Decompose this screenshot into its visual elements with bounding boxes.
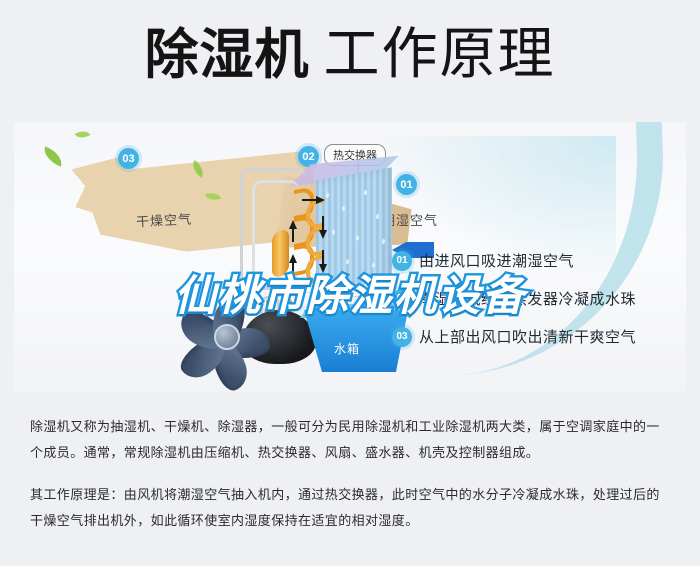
step-text: 从上部出风口吹出清新干爽空气	[419, 326, 636, 347]
poster-root: 除湿机工作原理 干燥空气 潮湿空气 03 02 01 热交换器	[0, 0, 700, 566]
condensation-droplets	[316, 167, 392, 292]
step-number: 02	[392, 289, 412, 309]
steps-list: 01 由进风口吸进潮湿空气 02 潮湿空气经过蒸发器冷凝成水珠 03 从上部出风…	[392, 250, 692, 364]
diagram-badge-03: 03	[118, 148, 139, 169]
leaf-icon	[75, 127, 91, 142]
leaf-icon	[40, 146, 65, 166]
refrigerant-coils	[266, 179, 322, 301]
dry-air-label: 干燥空气	[136, 209, 193, 231]
page-title: 除湿机工作原理	[0, 24, 700, 85]
list-item: 01 由进风口吸进潮湿空气	[392, 250, 692, 271]
step-text: 潮湿空气经过蒸发器冷凝成水珠	[419, 288, 636, 309]
step-text: 由进风口吸进潮湿空气	[419, 250, 574, 271]
receiver-cylinder	[272, 228, 289, 279]
body-copy: 除湿机又称为抽湿机、干燥机、除湿器，一般可分为民用除湿机和工业除湿机两大类，属于…	[30, 414, 670, 550]
fan-assembly	[174, 284, 282, 388]
list-item: 03 从上部出风口吹出清新干爽空气	[392, 326, 692, 347]
title-part-2: 工作原理	[324, 22, 556, 85]
water-tank-label: 水箱	[334, 340, 360, 357]
step-number: 01	[392, 251, 412, 271]
body-paragraph-2: 其工作原理是：由风机将潮湿空气抽入机内，通过热交换器，此时空气中的水分子冷凝成水…	[30, 482, 670, 534]
fan-hub	[214, 324, 240, 350]
step-number: 03	[392, 327, 412, 347]
body-paragraph-1: 除湿机又称为抽湿机、干燥机、除湿器，一般可分为民用除湿机和工业除湿机两大类，属于…	[30, 414, 670, 466]
list-item: 02 潮湿空气经过蒸发器冷凝成水珠	[392, 288, 692, 309]
title-part-1: 除湿机	[145, 25, 310, 85]
